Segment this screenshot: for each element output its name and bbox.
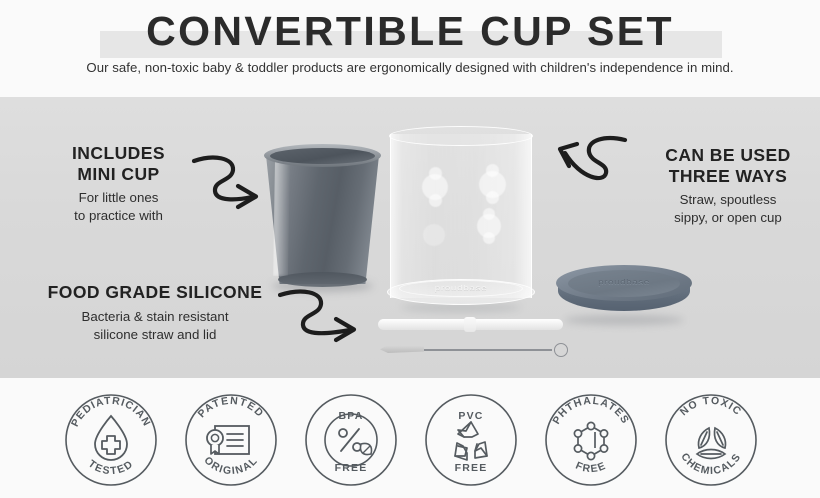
clear-cup-grip-texture (423, 224, 445, 246)
badge-bottom-text: FREE (574, 460, 609, 476)
lid-embossed-brand: proudbase (578, 278, 670, 286)
page-subtitle: Our safe, non-toxic baby & toddler produ… (0, 60, 820, 75)
arrow-to-three-ways (545, 134, 631, 192)
clear-cup-grip-texture (429, 194, 442, 207)
arrow-to-mini-cup (190, 152, 270, 214)
clear-cup-grip-texture (429, 167, 442, 180)
annotation-food-grade-silicone: FOOD GRADE SILICONE Bacteria & stain res… (22, 282, 288, 343)
straw-collar (464, 317, 476, 332)
silicone-straw-image (378, 318, 563, 331)
certificate-award-icon (207, 426, 249, 454)
clear-cup-embossed-brand: proudbase (415, 285, 507, 293)
svg-text:PATENTED: PATENTED (196, 395, 267, 420)
badge-top-text: BPA (339, 410, 364, 422)
badge-phthalates-free: PHTHALATES FREE (537, 386, 645, 494)
clear-cup-grip-texture (486, 164, 499, 177)
badge-top-text: NO TOXIC (678, 395, 744, 418)
badge-pediatrician-tested: PEDIATRICIAN TESTED (57, 386, 165, 494)
clear-cup-grip-texture (486, 191, 499, 204)
clear-cup-grip-texture (483, 208, 495, 220)
silicone-lid-image: proudbase (556, 265, 692, 321)
annotation-sub-line1: Bacteria & stain resistant (22, 308, 288, 326)
clear-cup-image: proudbase (387, 124, 535, 311)
svg-text:FREE: FREE (574, 460, 609, 476)
arrow-to-silicone-straw (278, 286, 374, 348)
page-title: CONVERTIBLE CUP SET (0, 6, 820, 56)
molecule-hexagon-icon (574, 422, 607, 459)
mini-cup-highlight (273, 158, 290, 276)
brush-wire (416, 349, 552, 351)
droplet-cross-icon (95, 416, 127, 460)
badge-bottom-text: CHEMICALS (678, 451, 743, 477)
svg-text:PEDIATRICIAN: PEDIATRICIAN (69, 395, 153, 429)
convertible-cup-set-infographic: CONVERTIBLE CUP SET Our safe, non-toxic … (0, 0, 820, 498)
clear-cup-grip-texture (483, 232, 495, 244)
brush-bristles (380, 345, 424, 353)
clear-cup-rim (389, 126, 533, 146)
badge-bottom-text: FREE (335, 462, 368, 474)
percent-leaf-icon (339, 429, 372, 455)
annotation-heading-line1: FOOD GRADE SILICONE (22, 282, 288, 303)
annotation-sub-line2: silicone straw and lid (22, 326, 288, 344)
annotation-heading-line2: THREE WAYS (636, 166, 820, 187)
svg-text:ORIGINAL: ORIGINAL (202, 454, 261, 477)
mini-cup-base (278, 272, 367, 287)
brush-loop-handle (554, 343, 568, 357)
badge-top-text: PATENTED (196, 395, 267, 420)
cleaning-brush-image (380, 342, 568, 358)
lid-shadow (564, 315, 684, 325)
three-leaves-icon (697, 428, 726, 459)
badge-top-text: PEDIATRICIAN (69, 395, 153, 429)
badge-bottom-text: ORIGINAL (202, 454, 261, 477)
mini-cup-rim-inner (270, 148, 375, 164)
annotation-heading-line1: CAN BE USED (636, 145, 820, 166)
badge-pvc-free: PVC FREE (417, 386, 525, 494)
annotation-can-be-used-three-ways: CAN BE USED THREE WAYS Straw, spoutless … (636, 145, 820, 226)
badge-no-toxic-chemicals: NO TOXIC CHEMICALS (657, 386, 765, 494)
clear-cup-wall (390, 134, 532, 298)
badge-top-text: PVC (458, 410, 483, 422)
badge-bottom-text: FREE (455, 462, 488, 474)
certification-badges: PEDIATRICIAN TESTED (0, 386, 820, 494)
header: CONVERTIBLE CUP SET (0, 6, 820, 56)
badge-patented-original: PATENTED ORIGINAL (177, 386, 285, 494)
svg-text:CHEMICALS: CHEMICALS (678, 451, 743, 477)
mini-cup-image (262, 144, 383, 286)
annotation-sub-line2: sippy, or open cup (636, 209, 820, 227)
recycle-icon (455, 422, 487, 460)
badge-bpa-free: BPA FREE (297, 386, 405, 494)
svg-text:NO TOXIC: NO TOXIC (678, 395, 744, 418)
annotation-sub-line1: Straw, spoutless (636, 191, 820, 209)
